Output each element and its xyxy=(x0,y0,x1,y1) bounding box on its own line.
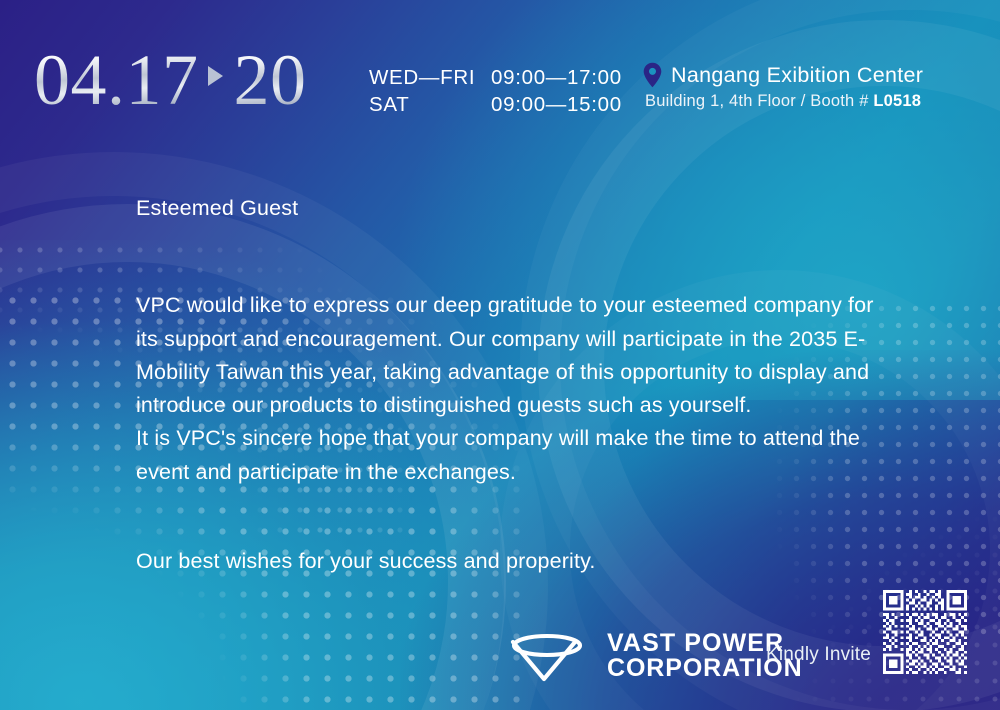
event-schedule: WED—FRI 09:00—17:00 SAT 09:00—15:00 xyxy=(369,66,622,117)
venue-detail: Building 1, 4th Floor / Booth # L0518 xyxy=(645,92,923,111)
arrow-right-icon xyxy=(208,66,223,86)
body-paragraph-1: VPC would like to express our deep grati… xyxy=(136,289,896,422)
venue-booth-number: L0518 xyxy=(873,92,921,110)
date-end: 20 xyxy=(234,44,307,116)
invitation-card: 04.17 20 WED—FRI 09:00—17:00 SAT 09:00—1… xyxy=(0,0,1000,710)
qr-code-icon[interactable] xyxy=(883,590,967,674)
salutation: Esteemed Guest xyxy=(136,192,896,225)
company-logo: VAST POWER CORPORATION xyxy=(497,630,803,682)
venue-detail-prefix: Building 1, 4th Floor / Booth # xyxy=(645,92,873,110)
schedule-days-0: WED—FRI xyxy=(369,66,491,90)
body-paragraph-2: It is VPC's sincere hope that your compa… xyxy=(136,422,896,489)
event-venue: Nangang Exibition Center Building 1, 4th… xyxy=(643,62,923,111)
venue-name-row: Nangang Exibition Center xyxy=(643,62,923,88)
event-date: 04.17 20 xyxy=(34,44,307,116)
schedule-hours-0: 09:00—17:00 xyxy=(491,66,622,90)
vast-power-vp-monogram-icon xyxy=(497,630,595,682)
invitation-body: Esteemed Guest VPC would like to express… xyxy=(136,192,896,578)
card-header: 04.17 20 WED—FRI 09:00—17:00 SAT 09:00—1… xyxy=(0,0,1000,140)
schedule-days-1: SAT xyxy=(369,93,491,117)
schedule-hours-1: 09:00—15:00 xyxy=(491,93,622,117)
date-start: 04.17 xyxy=(34,44,199,116)
card-footer: VAST POWER CORPORATION Kindly Invite xyxy=(0,570,1000,710)
location-pin-icon xyxy=(643,62,662,88)
kindly-invite-label: Kindly Invite xyxy=(766,644,871,666)
venue-name: Nangang Exibition Center xyxy=(671,63,923,87)
